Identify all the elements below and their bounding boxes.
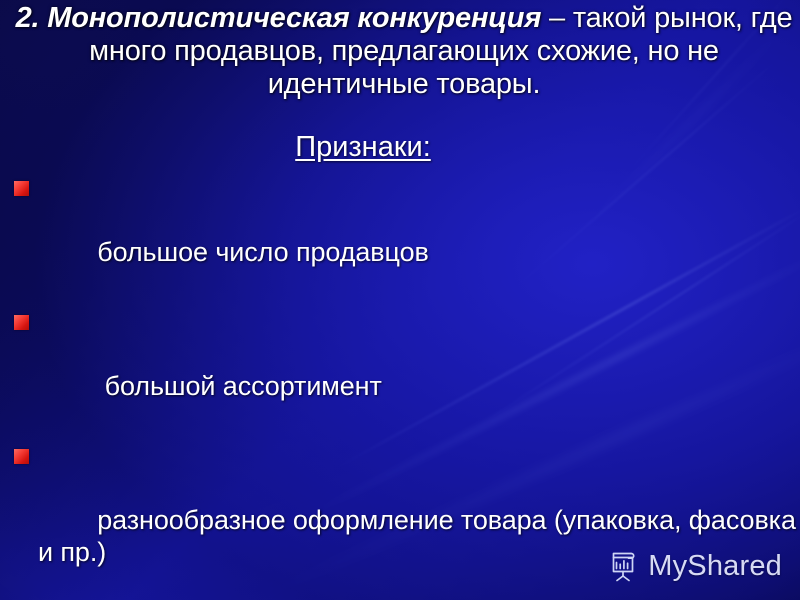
list-item: большой ассортимент — [8, 306, 798, 434]
red-square-bullet-icon — [14, 315, 29, 330]
features-list: большое число продавцов большой ассортим… — [8, 172, 798, 600]
red-square-bullet-icon — [14, 449, 29, 464]
slide-content: 2. Монополистическая конкуренция – такой… — [0, 0, 800, 600]
slide-title-term: 2. Монополистическая конкуренция — [16, 2, 542, 34]
flipchart-bar-chart-icon — [609, 550, 639, 582]
section-heading-label: Признаки: — [295, 131, 431, 163]
myshared-watermark-label: MyShared — [648, 551, 782, 581]
slide-title: 2. Монополистическая конкуренция – такой… — [14, 2, 794, 101]
list-item: большое число продавцов — [8, 172, 798, 300]
list-item-label: большой ассортимент — [97, 371, 382, 401]
list-item-label: большое число продавцов — [97, 237, 429, 267]
myshared-watermark: MyShared — [609, 550, 782, 582]
red-square-bullet-icon — [14, 181, 29, 196]
presentation-slide: 2. Монополистическая конкуренция – такой… — [0, 0, 800, 600]
section-heading: Признаки: — [0, 130, 726, 164]
